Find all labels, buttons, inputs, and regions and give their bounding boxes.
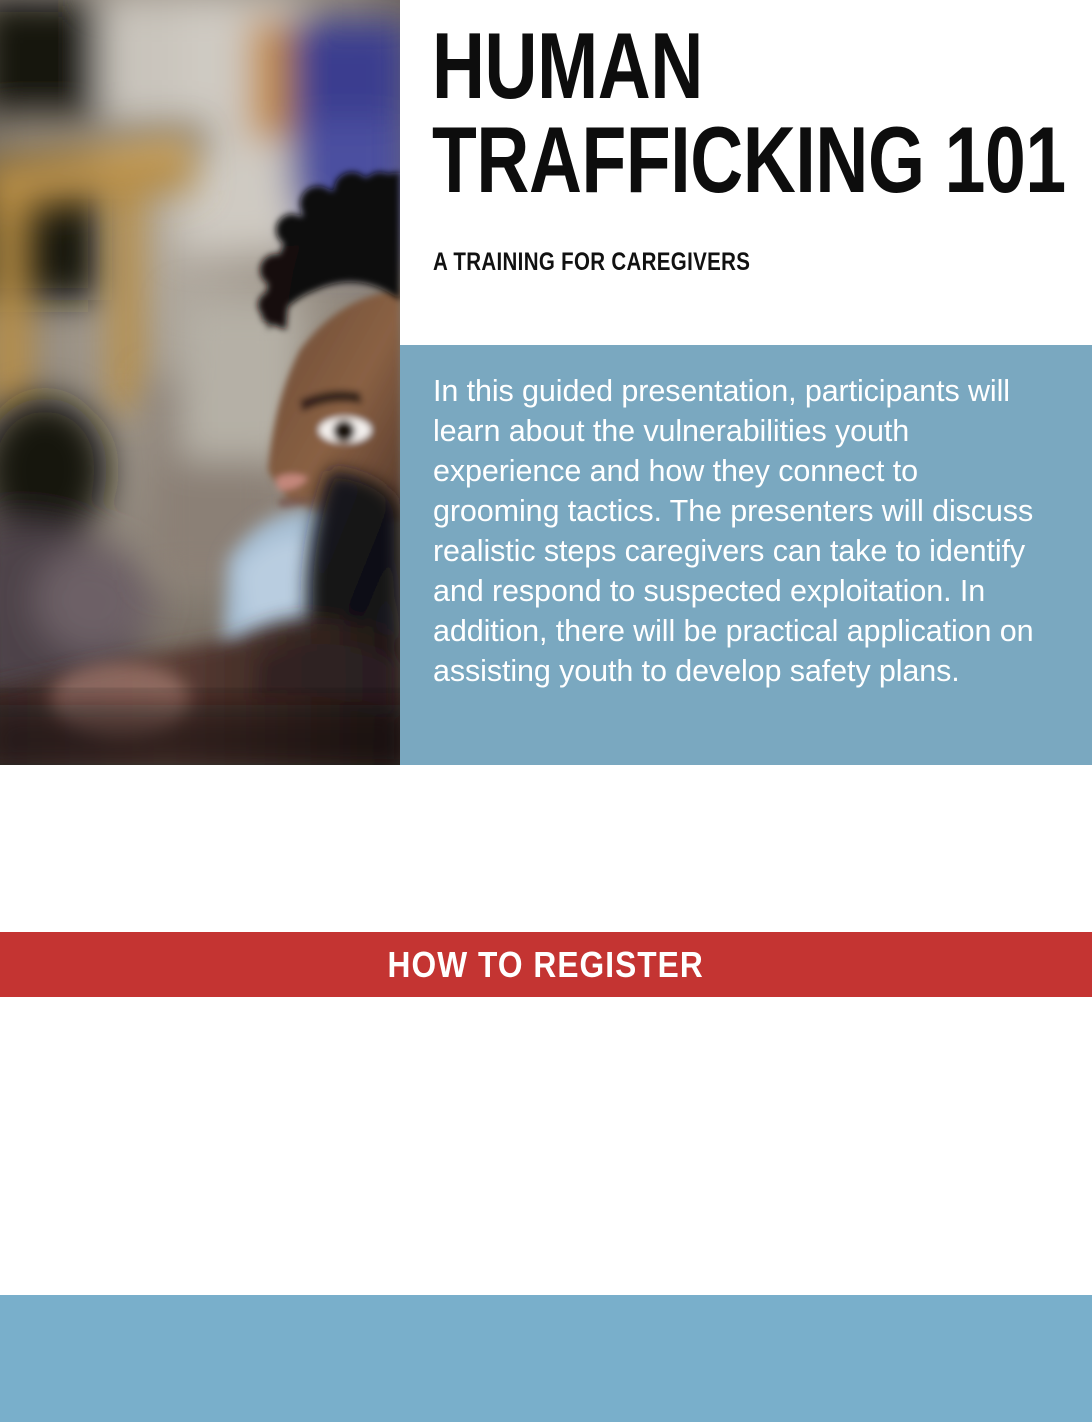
description-text: In this guided presentation, participant…: [433, 371, 1049, 691]
title-area: HUMAN TRAFFICKING 101 A TRAINING FOR CAR…: [400, 0, 1092, 345]
page-subtitle: A TRAINING FOR CAREGIVERS: [433, 248, 750, 277]
register-area: SCAN ME: [0, 997, 1092, 1295]
hero-photo: [0, 0, 400, 765]
description-panel: In this guided presentation, participant…: [400, 345, 1092, 765]
footer: LOVE146: [0, 1295, 1092, 1422]
how-to-register-label: HOW TO REGISTER: [388, 944, 704, 986]
how-to-register-banner: HOW TO REGISTER: [0, 932, 1092, 997]
poster: HUMAN TRAFFICKING 101 A TRAINING FOR CAR…: [0, 0, 1092, 1422]
page-title-line1: HUMAN: [432, 18, 703, 114]
page-title-line2: TRAFFICKING 101: [432, 112, 1066, 208]
top-block: HUMAN TRAFFICKING 101 A TRAINING FOR CAR…: [0, 0, 1092, 765]
event-details-strip: Time: 12:00pm-1:00pm Date: 11/17/25 Virt…: [0, 765, 1092, 927]
